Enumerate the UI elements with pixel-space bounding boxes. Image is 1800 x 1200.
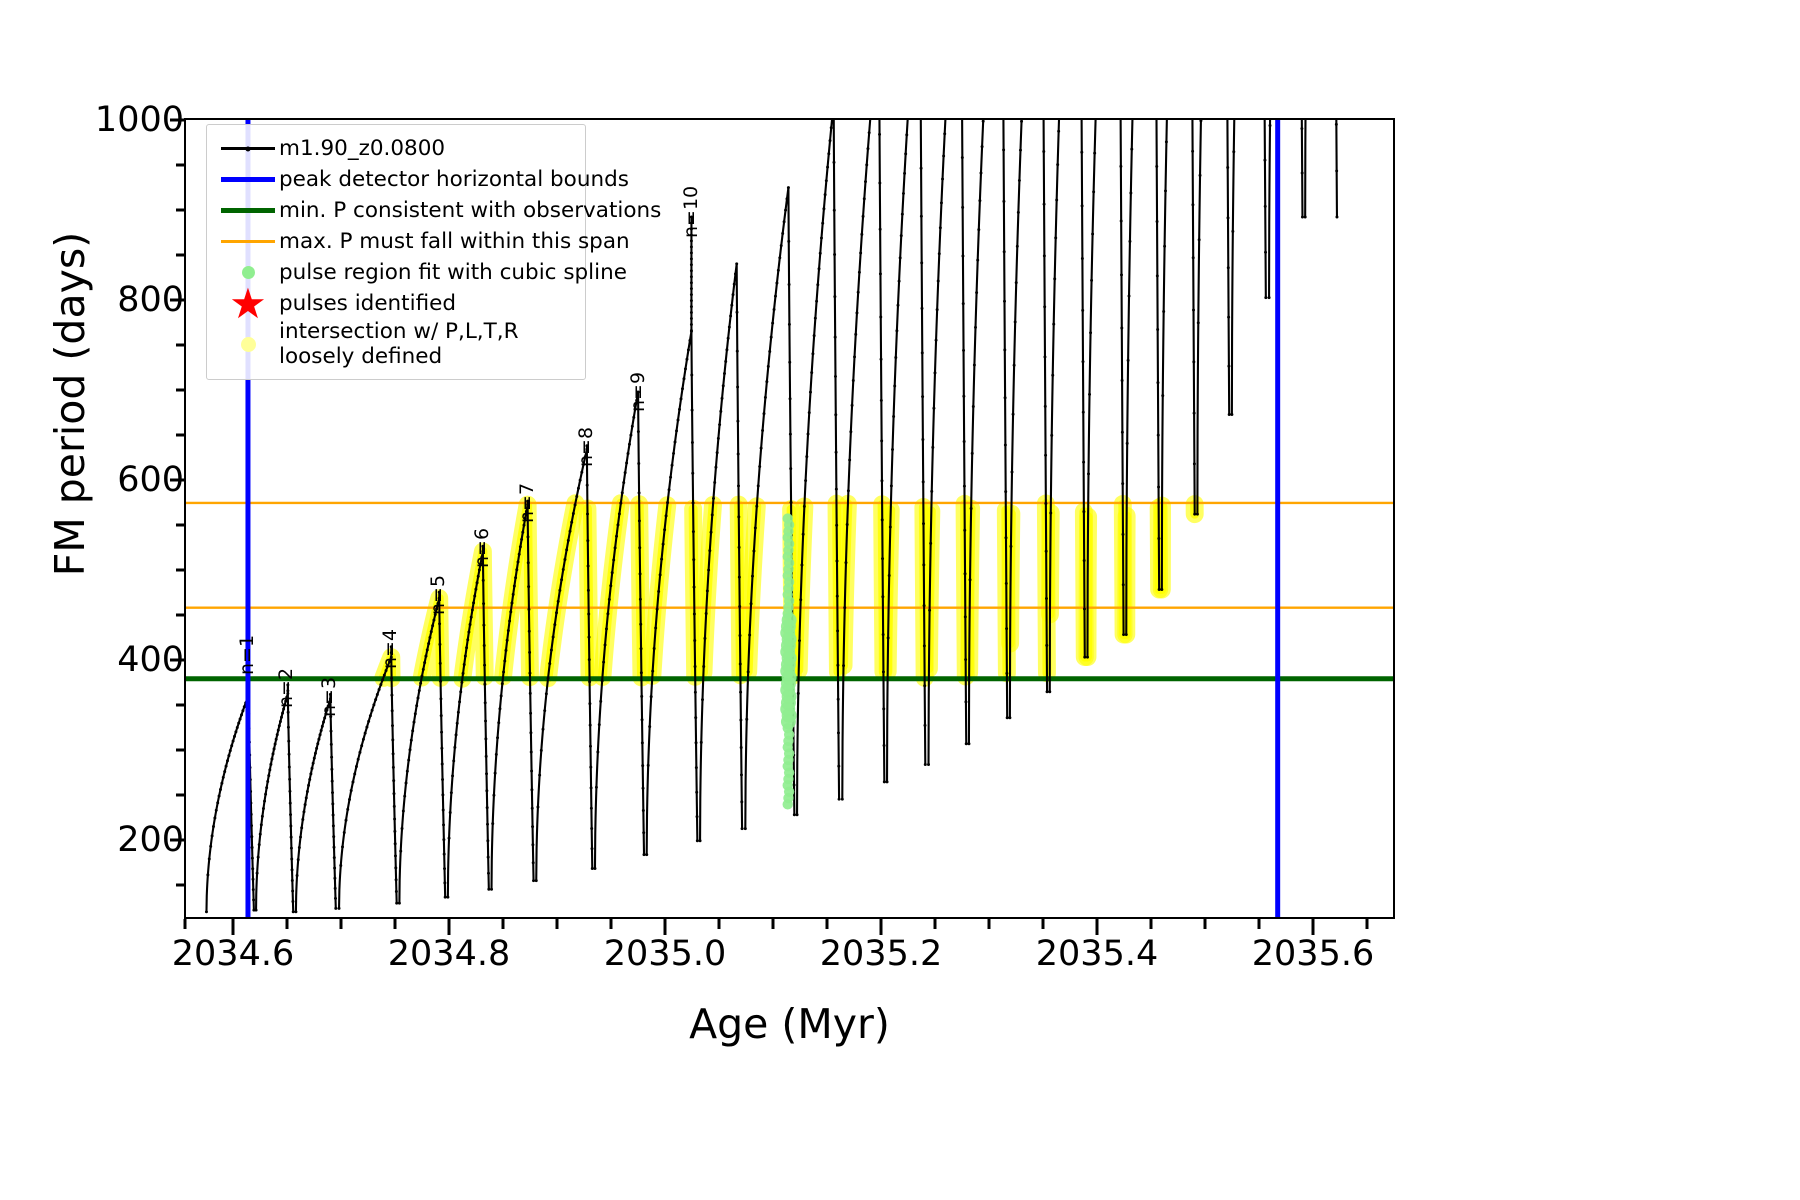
x-tick-mark-2034p6	[232, 919, 235, 935]
x-tick-minor	[772, 919, 775, 929]
green-line-icon	[217, 195, 279, 226]
legend-item-spline[interactable]: pulse region fit with cubic spline	[217, 257, 575, 288]
legend-item-max-p[interactable]: max. P must fall within this span	[217, 226, 575, 257]
yellow-dot-icon	[217, 319, 279, 369]
x-tick-minor	[988, 919, 991, 929]
pulse-label-n4: n=4	[379, 629, 401, 669]
legend-label-min-p: min. P consistent with observations	[279, 198, 661, 223]
pulse-label-n6: n=6	[471, 528, 493, 568]
x-tick-minor	[340, 919, 343, 929]
y-axis-label: FM period (days)	[46, 124, 94, 684]
legend-label-pulses: pulses identified	[279, 291, 456, 316]
pulse-label-n3: n=3	[318, 677, 340, 717]
legend-label-intersection: intersection w/ P,L,T,R loosely defined	[279, 319, 559, 369]
x-tick-minor	[934, 919, 937, 929]
legend-item-min-p[interactable]: min. P consistent with observations	[217, 195, 575, 226]
x-tick-label-2035p4: 2035.4	[1036, 934, 1158, 974]
legend-box: m1.90_z0.0800 peak detector horizontal b…	[206, 124, 586, 380]
x-tick-mark-2035p4	[1096, 919, 1099, 935]
line-with-marker-icon	[217, 133, 279, 164]
x-tick-minor	[610, 919, 613, 929]
x-tick-minor	[1204, 919, 1207, 929]
x-tick-label-2034p6: 2034.6	[172, 934, 294, 974]
pulse-label-n7: n=7	[516, 483, 538, 523]
x-tick-mark-2034p8	[448, 919, 451, 935]
x-tick-minor	[556, 919, 559, 929]
legend-item-peak-detector[interactable]: peak detector horizontal bounds	[217, 164, 575, 195]
x-tick-mark-2035p0	[664, 919, 667, 935]
pulse-label-n8: n=8	[575, 427, 597, 467]
figure-canvas: FM period (days) 1000 800 600 400 200 20…	[0, 0, 1800, 1200]
legend-label-max-p: max. P must fall within this span	[279, 229, 630, 254]
x-tick-minor	[1366, 919, 1369, 929]
x-tick-label-2035p2: 2035.2	[820, 934, 942, 974]
pulse-label-n1: n=1	[236, 635, 258, 675]
x-tick-minor	[826, 919, 829, 929]
legend-item-intersection[interactable]: intersection w/ P,L,T,R loosely defined	[217, 319, 575, 369]
x-tick-minor	[1150, 919, 1153, 929]
legend-item-pulses[interactable]: ★ pulses identified	[217, 288, 575, 319]
x-tick-minor	[1042, 919, 1045, 929]
x-tick-mark-2035p6	[1312, 919, 1315, 935]
red-star-icon: ★	[217, 288, 279, 319]
x-tick-minor	[286, 919, 289, 929]
x-tick-label-2035p6: 2035.6	[1252, 934, 1374, 974]
legend-label-peak-detector: peak detector horizontal bounds	[279, 167, 629, 192]
x-tick-minor	[1258, 919, 1261, 929]
blue-line-icon	[217, 164, 279, 195]
x-tick-label-2035p0: 2035.0	[604, 934, 726, 974]
x-axis-label: Age (Myr)	[184, 1000, 1395, 1048]
pulse-label-n5: n=5	[427, 574, 449, 614]
legend-label-spline: pulse region fit with cubic spline	[279, 260, 627, 285]
orange-line-icon	[217, 226, 279, 257]
pulse-label-n10: n=10	[680, 185, 702, 237]
x-tick-minor	[184, 919, 187, 929]
legend-item-model[interactable]: m1.90_z0.0800	[217, 133, 575, 164]
x-tick-mark-2035p2	[880, 919, 883, 935]
x-tick-minor	[394, 919, 397, 929]
pulse-label-n9: n=9	[627, 372, 649, 412]
x-tick-label-2034p8: 2034.8	[388, 934, 510, 974]
pulse-label-n2: n=2	[275, 668, 297, 708]
legend-label-model: m1.90_z0.0800	[279, 136, 445, 161]
x-tick-minor	[502, 919, 505, 929]
x-tick-minor	[718, 919, 721, 929]
